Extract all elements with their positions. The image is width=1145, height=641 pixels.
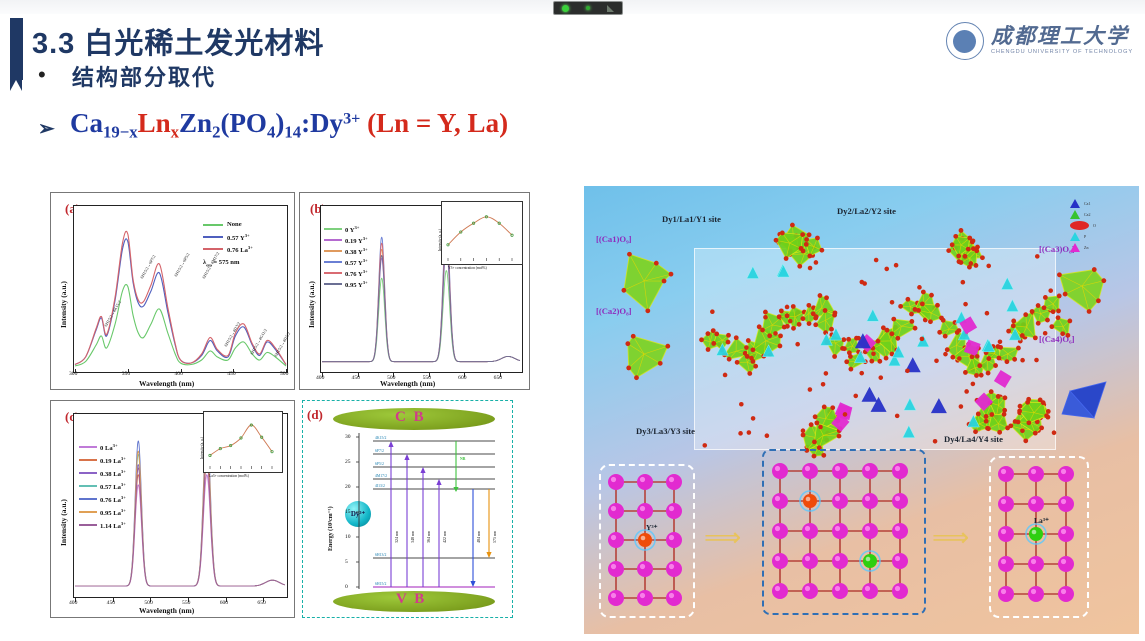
legend-label: 0.57 La3+	[100, 482, 126, 491]
arrow-left-icon: ⟹	[704, 522, 741, 553]
record-dot-icon	[562, 5, 569, 12]
formula-ln: Ln	[138, 108, 171, 138]
x-tick-label: 600	[220, 600, 228, 606]
panel-d-wavelength-label: 348 nm	[410, 531, 415, 543]
legend-line	[79, 485, 97, 487]
x-tick-label: 500	[144, 600, 152, 606]
legend-label: 0.95 La3+	[100, 508, 126, 517]
panel-d-level-label: 6P7/2	[375, 449, 384, 453]
legend-line	[79, 498, 97, 500]
panel-b-inset-xlabel: Y3+ concentration (mol%)	[448, 266, 487, 270]
legend-line	[324, 283, 342, 285]
panel-c-ylabel: Intensity (a.u.)	[59, 499, 68, 546]
legend-label: 0.19 La3+	[100, 456, 126, 465]
panel-a-xlabel: Wavelength (nm)	[139, 379, 194, 388]
legend-label: 0.57 Y3+	[345, 258, 368, 267]
formula-sub-5: 14	[284, 122, 301, 141]
panel-a-legend-line	[203, 248, 223, 250]
formula-dy: :Dy	[301, 108, 343, 138]
legend-label: 0 La3+	[100, 443, 118, 452]
panel-a-legend-label: None	[227, 221, 242, 228]
formula-zn: Zn	[179, 108, 212, 138]
panel-d-level-label: 6H13/2	[375, 553, 386, 557]
arrow-right-icon: ⟹	[932, 522, 969, 553]
panel-a-legend-label: 0.57 Y3+	[227, 233, 250, 242]
panel-a-legend-line	[203, 224, 223, 226]
panel-d-nr-label: NR	[460, 457, 465, 461]
legend-label: 0.95 Y3+	[345, 280, 368, 289]
legend-label: 0.38 La3+	[100, 469, 126, 478]
x-tick-label: 650	[257, 600, 265, 606]
legend-line	[79, 472, 97, 474]
figure-panel-d: (d) C B V B Energy (10³cm⁻¹) Dy³⁺ 051015…	[302, 400, 513, 618]
lattice-diagrams	[584, 186, 1139, 634]
legend-label: 1.14 La3+	[100, 521, 126, 530]
panel-d-tick-label: 15	[345, 509, 351, 515]
legend-label: 0.19 Y3+	[345, 236, 368, 245]
panel-b-inset	[441, 201, 523, 265]
panel-a-tick-label: 400	[175, 371, 183, 377]
formula-ca: Ca	[70, 108, 103, 138]
panel-d-wavelength-label: 484 nm	[476, 531, 481, 543]
panel-b-inset-ylabel: Intensity (a. u.)	[438, 229, 442, 251]
panel-d-tick-label: 10	[345, 534, 351, 540]
legend-line	[79, 459, 97, 461]
panel-d-tick-label: 30	[345, 434, 351, 440]
panel-d-level-label: 6P5/2	[375, 462, 384, 466]
chemical-formula: Ca19−xLnxZn2(PO4)14:Dy3+ (Ln = Y, La)	[70, 108, 508, 142]
panel-d-wavelength-label: 422 nm	[442, 531, 447, 543]
legend-line	[79, 511, 97, 513]
arrow-marker-icon: ➢	[38, 116, 55, 141]
panel-c-inset	[203, 411, 283, 473]
panel-d-level-label: 4I13/2	[375, 484, 385, 488]
x-tick-label: 600	[458, 375, 466, 381]
legend-line	[324, 228, 342, 230]
panel-c-inset-xlabel: La3+ concentration (mol%)	[209, 474, 249, 478]
x-tick-label: 650	[494, 375, 502, 381]
panel-b-ylabel: Intensity (a.u.)	[307, 281, 316, 328]
x-tick-label: 450	[107, 600, 115, 606]
panel-c-inset-plot	[204, 412, 280, 470]
formula-sup-6: 3+	[343, 110, 360, 128]
formula-ln-note: (Ln = Y, La)	[367, 108, 508, 138]
title-accent-bar	[10, 18, 23, 80]
legend-label: 0.76 La3+	[100, 495, 126, 504]
panel-c-xlabel: Wavelength (nm)	[139, 606, 194, 615]
formula-sub-2: x	[171, 122, 179, 141]
panel-a-legend-line	[203, 236, 223, 238]
formula-sub-1: 19−x	[103, 122, 138, 141]
x-tick-label: 550	[182, 600, 190, 606]
panel-d-tick-label: 0	[345, 584, 348, 590]
university-logo: 成都理工大学 CHENGDU UNIVERSITY OF TECHNOLOGY	[946, 22, 1133, 60]
figure-panel-c: (c) λex = 348 nm 575 nm Intensity (a.u.)…	[50, 400, 295, 618]
x-tick-label: 450	[352, 375, 360, 381]
legend-line	[79, 446, 97, 448]
figure-panel-b: (b) λex = 348 nm 575 nm Intensity (a.u.)…	[299, 192, 530, 390]
page-title: 3.3 白光稀土发光材料	[32, 20, 324, 62]
figure-panel-a: (a) 348 nm Intensity (a.u.) Wavelength (…	[50, 192, 295, 390]
panel-d-wavelength-label: 324 nm	[394, 531, 399, 543]
panel-a-legend-label: 0.76 La3+	[227, 245, 253, 254]
x-tick-label: 400	[316, 375, 324, 381]
panel-d-tick-label: 25	[345, 459, 351, 465]
legend-label: 0.76 Y3+	[345, 269, 368, 278]
panel-d-diagram	[303, 401, 514, 619]
lattice-right-dopant-label: La³⁺	[1034, 516, 1049, 525]
x-tick-label: 550	[423, 375, 431, 381]
legend-line	[324, 250, 342, 252]
panel-a-tick-label: 300	[69, 371, 77, 377]
legend-line	[79, 524, 97, 526]
legend-label: 0.38 Y3+	[345, 247, 368, 256]
screen-recorder-indicator[interactable]	[553, 1, 623, 15]
panel-d-level-label: 6H15/2	[375, 582, 386, 586]
university-seal-icon	[946, 22, 984, 60]
panel-b-inset-plot	[442, 202, 520, 262]
panel-c-inset-ylabel: Intensity (a. u.)	[200, 437, 204, 459]
legend-line	[324, 261, 342, 263]
legend-line	[324, 272, 342, 274]
x-tick-label: 400	[69, 600, 77, 606]
legend-line	[324, 239, 342, 241]
subtitle: 结构部分取代	[72, 60, 216, 92]
formula-paren: )	[275, 108, 284, 138]
legend-label: 0 Y3+	[345, 225, 359, 234]
panel-a-tick-label: 450	[227, 371, 235, 377]
panel-d-wavelength-label: 364 nm	[426, 531, 431, 543]
panel-d-level-label: 4M17/2	[375, 474, 387, 478]
panel-d-level-label: 4K15/2	[375, 436, 386, 440]
panel-a-tick-label: 500	[280, 371, 288, 377]
panel-a-ylabel: Intensity (a.u.)	[59, 281, 68, 328]
panel-d-wavelength-label: 575 nm	[492, 531, 497, 543]
panel-d-tick-label: 20	[345, 484, 351, 490]
x-tick-label: 500	[387, 375, 395, 381]
panel-d-tick-label: 5	[345, 559, 348, 565]
panel-a-tick-label: 350	[122, 371, 130, 377]
lattice-left-dopant-label: Y³⁺	[646, 523, 658, 532]
crystal-structure-figure: Dy1/La1/Y1 site Dy2/La2/Y2 site Dy3/La3/…	[584, 186, 1139, 634]
record-dot-small-icon	[586, 6, 590, 10]
logo-name-en: CHENGDU UNIVERSITY OF TECHNOLOGY	[991, 50, 1133, 56]
formula-po: (PO	[220, 108, 267, 138]
signal-triangle-icon	[607, 5, 614, 12]
bullet-marker: •	[38, 62, 46, 88]
logo-name-cn: 成都理工大学	[991, 26, 1133, 47]
